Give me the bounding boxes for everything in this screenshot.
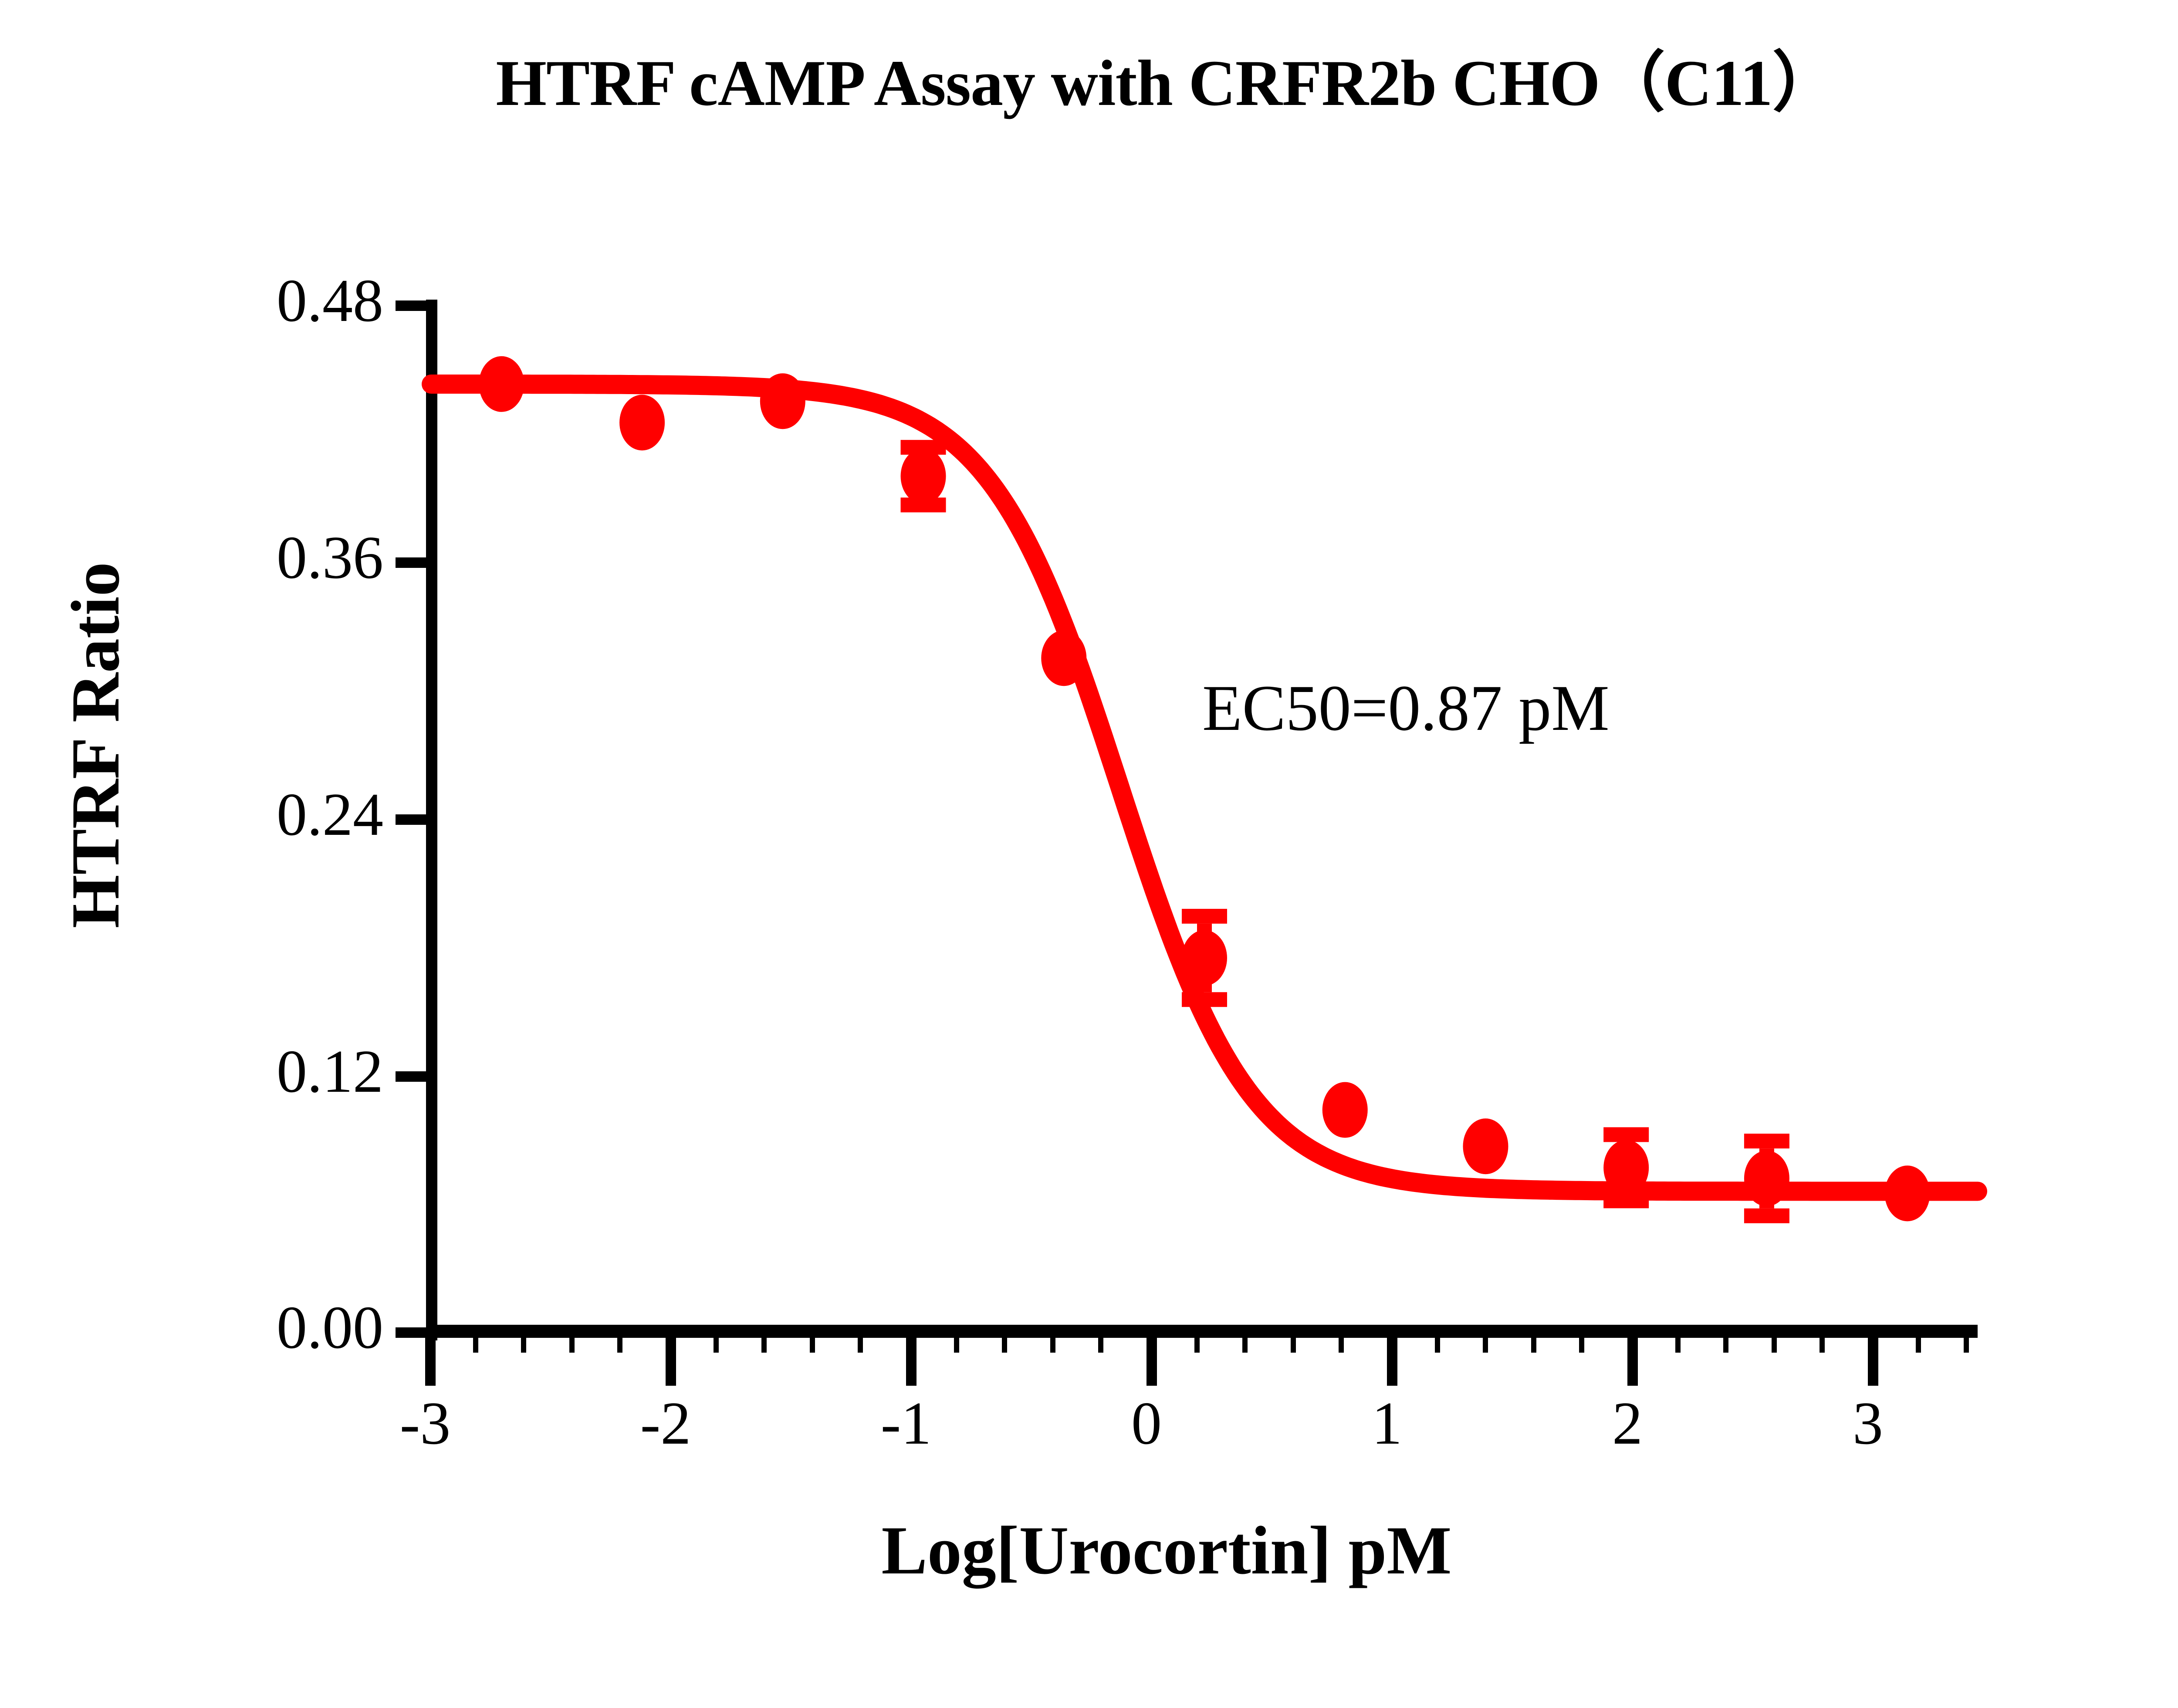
error-bar-cap [1603,1127,1649,1142]
y-tick-label-4: 0.00 [166,1293,383,1363]
x-tick-label-0: -3 [343,1388,507,1458]
x-axis-line [426,1325,1978,1338]
x-tick-label-3: 0 [1065,1388,1228,1458]
ec50-annotation: EC50=0.87 pM [1202,671,1610,746]
data-point-marker [1603,1140,1649,1195]
data-point-marker [619,395,665,450]
data-points-group [479,356,1930,1222]
dose-response-fit-curve [431,384,1978,1192]
data-point-marker [1041,630,1086,686]
x-tick-label-4: 1 [1305,1388,1469,1458]
y-tick-label-2: 0.24 [166,780,383,850]
data-point-marker [479,356,524,412]
y-axis-line [426,300,437,1340]
x-axis-minor-ticks [473,1338,1969,1353]
x-tick-label-6: 3 [1786,1388,1950,1458]
x-axis-title: Log[Urocortin] pM [0,1511,2178,1590]
error-bar-cap [1744,1208,1789,1223]
y-tick-label-0: 0.48 [166,266,383,336]
data-point-marker [901,448,946,504]
y-axis-title: HTRF Ratio [56,484,135,1006]
x-tick-label-5: 2 [1546,1388,1709,1458]
y-axis-major-ticks [396,300,427,1338]
y-tick-label-3: 0.12 [166,1036,383,1107]
data-point-marker [1744,1151,1789,1206]
error-bar-cap [1182,909,1227,924]
x-tick-label-1: -2 [584,1388,747,1458]
error-bar-cap [1744,1134,1789,1148]
data-point-marker [1885,1165,1930,1221]
x-tick-label-2: -1 [824,1388,988,1458]
data-point-marker [760,373,805,429]
data-point-marker [1182,930,1227,986]
data-point-marker [1463,1118,1508,1174]
data-point-marker [1322,1082,1368,1138]
error-bar-cap [1182,992,1227,1007]
chart-canvas: HTRF cAMP Assay with CRFR2b CHO（C11） [0,0,2178,1708]
y-tick-label-1: 0.36 [166,523,383,593]
error-bar-cap [1603,1193,1649,1208]
x-axis-major-ticks [425,1338,1878,1386]
